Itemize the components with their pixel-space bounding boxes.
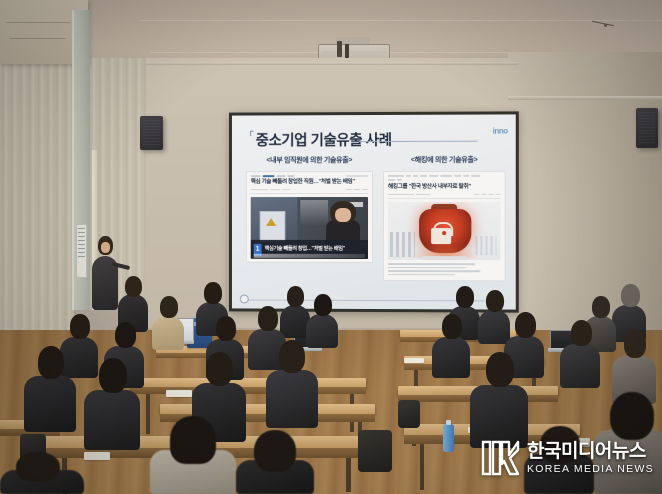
slide-page-marker (240, 295, 249, 304)
watermark: 한국미디어뉴스 KOREA MEDIA NEWS (480, 440, 654, 476)
paper-notice (76, 224, 87, 278)
window-curtain (0, 48, 74, 348)
water-bottle (443, 424, 454, 452)
backpack (358, 430, 392, 472)
hk-logo-icon (480, 440, 520, 476)
attendee (152, 296, 184, 350)
attendee (24, 346, 76, 432)
presenter (92, 236, 118, 310)
projector-arm (337, 41, 342, 57)
wall-trim (508, 96, 662, 100)
slide-column-left: <내부 임직원에 의한 기술유출> 핵심 기술 빼돌려 창업한 직원…"처벌 받… (246, 155, 373, 263)
projector-arm (345, 44, 349, 58)
title-divider (359, 141, 477, 142)
watermark-text: 한국미디어뉴스 KOREA MEDIA NEWS (527, 442, 654, 475)
slide-title: 중소기업 기술유출 사례 (256, 129, 392, 150)
presentation-slide: ┌ 중소기업 기술유출 사례 inno <내부 임직원에 의한 기술유출> 핵심… (232, 114, 516, 309)
watermark-korean: 한국미디어뉴스 (527, 442, 654, 461)
wall-trim (146, 62, 518, 65)
attendee (236, 430, 314, 494)
document (166, 390, 192, 397)
organization-logo: inno (493, 127, 508, 136)
article-headline: 핵심 기술 빼돌려 창업한 직원…"처벌 받는 배임" (251, 179, 368, 187)
quote-mark-icon: ┌ (248, 126, 254, 135)
desk (130, 378, 366, 387)
article-headline: 해킹그룹 "한국 방산사 내부자료 탈취" (388, 184, 501, 192)
cybersecurity-lock-image (388, 202, 501, 260)
news-article-card: 해킹그룹 "한국 방산사 내부자료 탈취" (383, 171, 506, 282)
news-article-card: 핵심 기술 빼돌려 창업한 직원…"처벌 받는 배임" (246, 171, 373, 263)
article-meta (388, 193, 501, 195)
column-edge (72, 10, 74, 310)
screen-surface: ┌ 중소기업 기술유출 사례 inno <내부 임직원에 의한 기술유출> 핵심… (232, 114, 516, 309)
article-meta (251, 189, 368, 191)
attendee (266, 340, 318, 428)
column-heading: <해킹에 의한 기술유출> (383, 155, 506, 165)
document (404, 358, 424, 363)
wall-speaker (636, 108, 658, 148)
column-heading: <내부 임직원에 의한 기술유출> (246, 155, 373, 165)
slide-column-right: <해킹에 의한 기술유출> 해킹그룹 "한국 방산사 내부자료 탈취" (383, 155, 506, 282)
caption-text: 핵심기술 빼돌려 창업…"처벌 받는 배임" (265, 246, 345, 253)
seminar-photo: ┌ 중소기업 기술유출 사례 inno <내부 임직원에 의한 기술유출> 핵심… (0, 0, 662, 494)
attendee (470, 352, 528, 448)
attendee (0, 452, 84, 494)
wall-speaker (140, 116, 163, 150)
article-nav (251, 175, 368, 177)
news-broadcast-image: 1 핵심기술 빼돌려 창업…"처벌 받는 배임" (251, 197, 368, 259)
attendee (432, 314, 470, 378)
attendee (84, 358, 140, 450)
projection-screen: ┌ 중소기업 기술유출 사례 inno <내부 임직원에 의한 기술유출> 핵심… (229, 111, 519, 312)
article-nav (388, 175, 501, 177)
backpack (398, 400, 420, 428)
article-body-lines (388, 263, 501, 275)
document (84, 452, 110, 460)
watermark-english: KOREA MEDIA NEWS (527, 464, 654, 475)
attendee (560, 320, 600, 388)
attendee (150, 416, 236, 494)
